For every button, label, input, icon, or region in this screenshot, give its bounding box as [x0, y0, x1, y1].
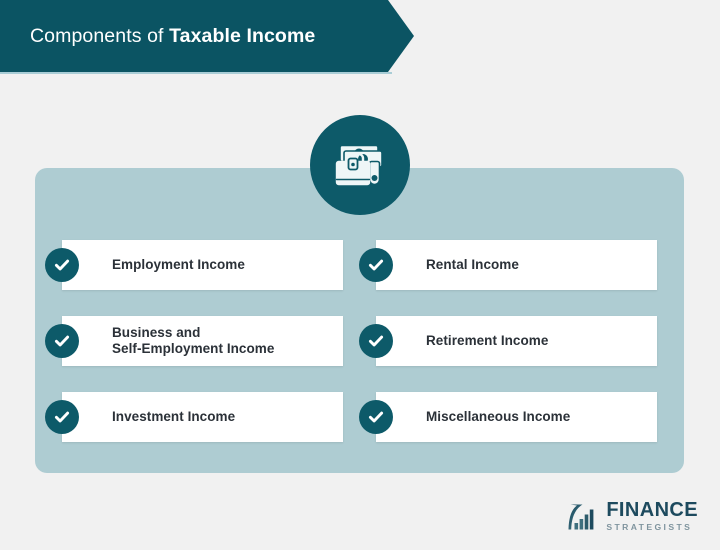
header-banner: Components of Taxable Income: [0, 0, 414, 72]
bar-chart-swoosh-icon: [568, 500, 600, 532]
check-icon: [45, 400, 79, 434]
logo-wordmark: FINANCE STRATEGISTS: [606, 500, 698, 532]
list-item[interactable]: Rental Income: [376, 240, 657, 290]
list-item-label: Retirement Income: [426, 333, 548, 349]
check-icon: [45, 324, 79, 358]
list-item-label: Investment Income: [112, 409, 235, 425]
list-item-label: Rental Income: [426, 257, 519, 273]
page-title-emphasis: Taxable Income: [169, 25, 315, 47]
check-icon: [45, 248, 79, 282]
income-components-list: Employment Income Rental Income Business…: [62, 240, 657, 442]
list-item[interactable]: Investment Income: [62, 392, 343, 442]
logo-word-strategists: STRATEGISTS: [606, 523, 698, 532]
brand-logo: FINANCE STRATEGISTS: [568, 500, 698, 532]
list-item[interactable]: Retirement Income: [376, 316, 657, 366]
list-item-label: Miscellaneous Income: [426, 409, 570, 425]
briefcase-money-icon: [310, 115, 410, 215]
check-icon: [359, 400, 393, 434]
check-icon: [359, 324, 393, 358]
header-underline-divider: [0, 72, 392, 74]
page-title-prefix: Components of: [30, 25, 169, 47]
list-item-label: Business and Self-Employment Income: [112, 325, 274, 357]
page-title: Components of Taxable Income: [30, 25, 315, 48]
infographic-root: Components of Taxable Income: [0, 0, 720, 550]
list-item[interactable]: Miscellaneous Income: [376, 392, 657, 442]
list-item[interactable]: Business and Self-Employment Income: [62, 316, 343, 366]
check-icon: [359, 248, 393, 282]
logo-word-finance: FINANCE: [606, 500, 698, 520]
list-item[interactable]: Employment Income: [62, 240, 343, 290]
list-item-label: Employment Income: [112, 257, 245, 273]
